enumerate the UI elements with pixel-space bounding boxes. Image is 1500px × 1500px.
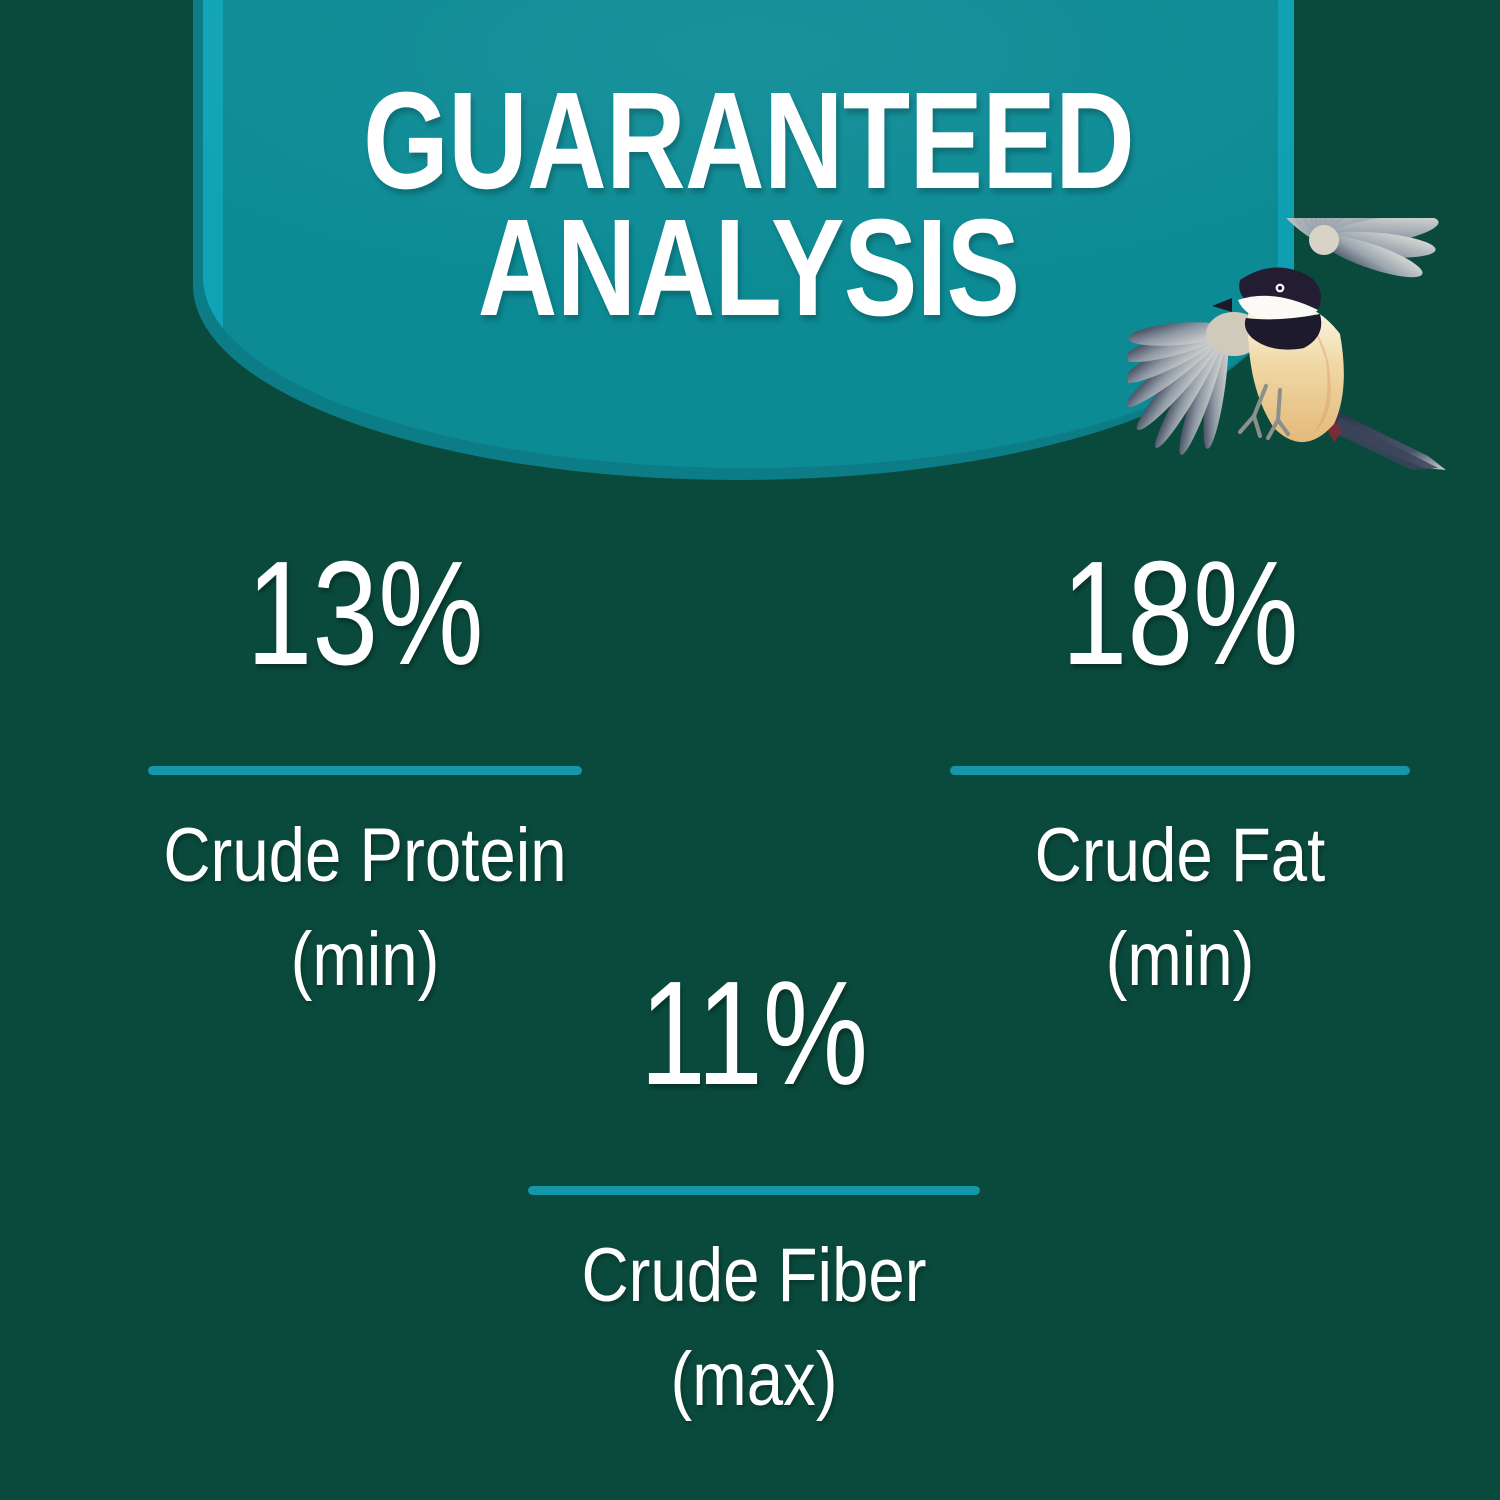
stat-crude-protein-value: 13% — [111, 540, 618, 688]
header-banner-left-edge — [203, 0, 223, 468]
stat-crude-fat-divider — [950, 766, 1410, 775]
stat-crude-fat: 18% Crude Fat (min) — [862, 540, 1498, 1001]
guaranteed-analysis-panel: GUARANTEED ANALYSIS — [0, 0, 1500, 1500]
bird-tail — [1318, 400, 1446, 470]
header-banner-right-edge — [1278, 0, 1294, 468]
stat-crude-fiber-divider — [528, 1186, 980, 1195]
stat-crude-fiber: 11% Crude Fiber (max) — [436, 960, 1072, 1421]
stat-crude-fat-label: Crude Fat — [907, 815, 1454, 897]
stat-crude-fat-value: 18% — [926, 540, 1435, 688]
header-banner: GUARANTEED ANALYSIS — [203, 0, 1294, 480]
stat-crude-protein-label: Crude Protein — [92, 815, 637, 897]
header-banner-sheen — [203, 0, 1294, 468]
stat-crude-fiber-label: Crude Fiber — [481, 1235, 1028, 1317]
stat-crude-fiber-value: 11% — [500, 960, 1009, 1108]
header-banner-plate — [203, 0, 1294, 468]
stat-crude-protein-divider — [148, 766, 582, 775]
stat-crude-protein: 13% Crude Protein (min) — [48, 540, 682, 1001]
stat-crude-fiber-qualifier: (max) — [481, 1339, 1028, 1421]
